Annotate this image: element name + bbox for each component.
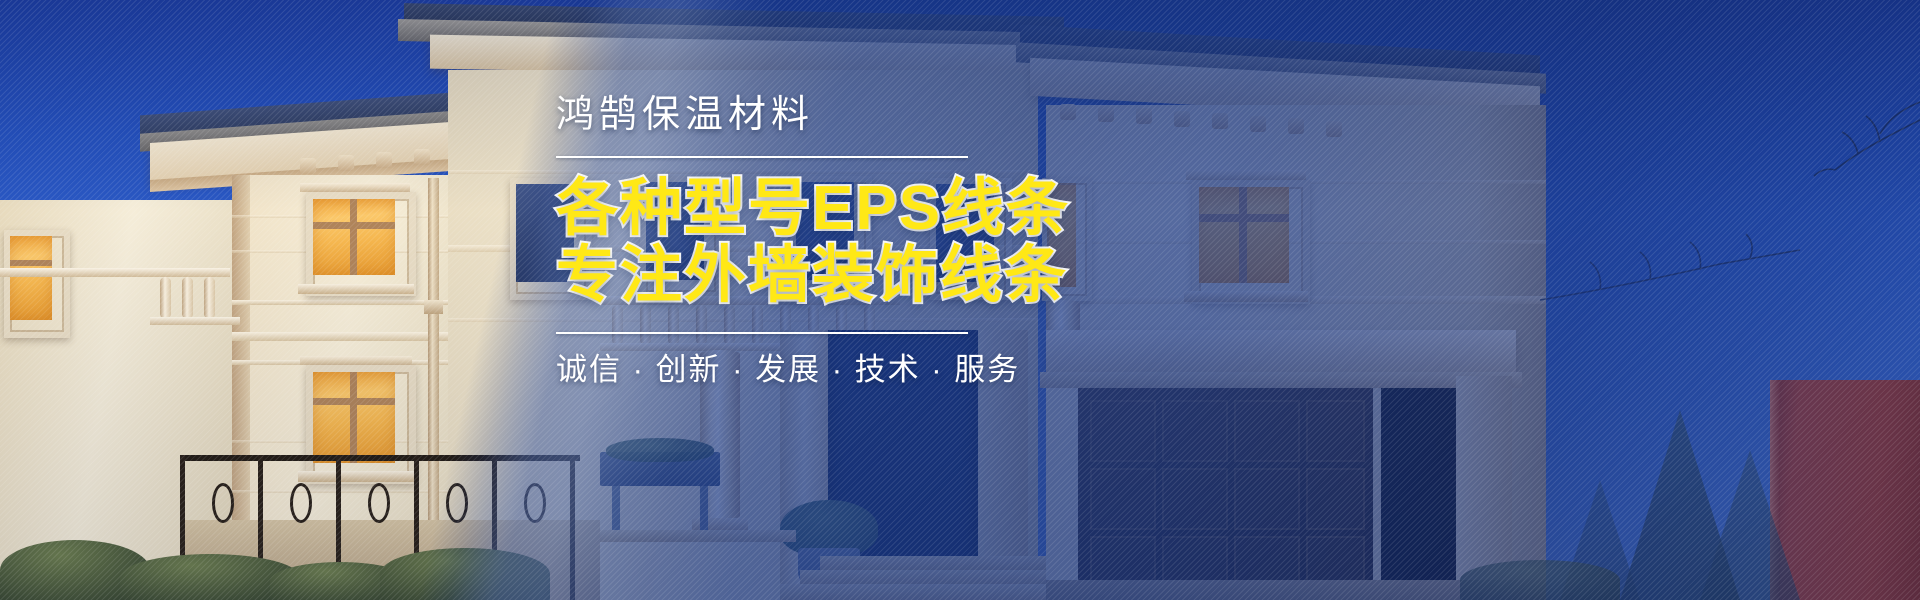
headline-line-1: 各种型号EPS线条 xyxy=(556,176,1236,243)
brand-name: 鸿鹄保温材料 xyxy=(556,96,1236,134)
divider-top xyxy=(556,156,968,158)
divider-bottom xyxy=(556,332,968,334)
tagline: 诚信 · 创新 · 发展 · 技术 · 服务 xyxy=(556,354,1236,385)
promo-banner: 鸿鹄保温材料 各种型号EPS线条 专注外墙装饰线条 诚信 · 创新 · 发展 ·… xyxy=(0,0,1920,600)
banner-copy: 鸿鹄保温材料 各种型号EPS线条 专注外墙装饰线条 诚信 · 创新 · 发展 ·… xyxy=(556,96,1236,385)
headline-line-2: 专注外墙装饰线条 xyxy=(556,243,1236,310)
